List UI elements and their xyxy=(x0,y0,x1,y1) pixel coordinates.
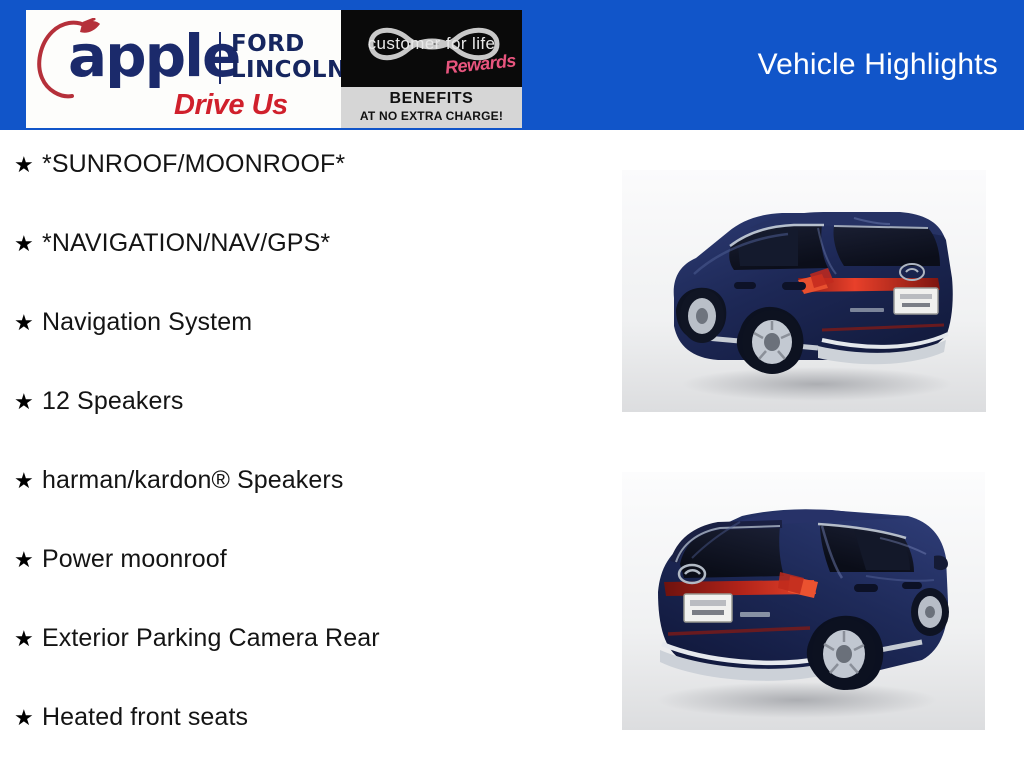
list-item: ★ Heated front seats xyxy=(14,705,248,730)
star-icon: ★ xyxy=(14,550,42,572)
rewards-badge: customer for life Rewards BENEFITS AT NO… xyxy=(341,10,522,128)
list-item: ★ harman/kardon® Speakers xyxy=(14,468,343,493)
vehicle-photo-2-image xyxy=(622,472,985,730)
page-title: Vehicle Highlights xyxy=(758,48,998,82)
star-icon: ★ xyxy=(14,708,42,730)
vehicle-photo-rear-driver-side[interactable] xyxy=(622,170,986,412)
highlight-label: Power moonroof xyxy=(42,547,227,572)
highlight-label: harman/kardon® Speakers xyxy=(42,468,343,493)
dealer-make-names: FORD LINCOLN xyxy=(231,31,347,83)
dealer-brand-word: apple xyxy=(68,27,239,85)
star-icon: ★ xyxy=(14,155,42,177)
star-icon: ★ xyxy=(14,313,42,335)
highlight-label: Exterior Parking Camera Rear xyxy=(42,626,380,651)
list-item: ★ 12 Speakers xyxy=(14,389,183,414)
star-icon: ★ xyxy=(14,629,42,651)
vehicle-photo-1-image xyxy=(622,170,986,412)
highlight-label: 12 Speakers xyxy=(42,389,183,414)
rewards-headline: customer for life xyxy=(349,34,514,54)
benefits-panel: BENEFITS AT NO EXTRA CHARGE! xyxy=(341,87,522,128)
make-lincoln: LINCOLN xyxy=(231,57,347,83)
list-item: ★ Navigation System xyxy=(14,310,252,335)
make-ford: FORD xyxy=(231,31,305,57)
benefits-subline: AT NO EXTRA CHARGE! xyxy=(360,109,503,123)
page-header: apple FORD LINCOLN Drive Us customer for… xyxy=(0,0,1024,130)
highlight-label: *SUNROOF/MOONROOF* xyxy=(42,152,345,177)
vehicle-highlights-list: ★ *SUNROOF/MOONROOF* ★ *NAVIGATION/NAV/G… xyxy=(0,130,600,768)
highlight-label: Heated front seats xyxy=(42,705,248,730)
benefits-headline: BENEFITS xyxy=(390,90,474,108)
list-item: ★ Power moonroof xyxy=(14,547,227,572)
star-icon: ★ xyxy=(14,471,42,493)
list-item: ★ *SUNROOF/MOONROOF* xyxy=(14,152,345,177)
dealer-logo[interactable]: apple FORD LINCOLN Drive Us customer for… xyxy=(26,10,522,128)
list-item: ★ *NAVIGATION/NAV/GPS* xyxy=(14,231,330,256)
list-item: ★ Exterior Parking Camera Rear xyxy=(14,626,380,651)
dealer-logo-primary: apple FORD LINCOLN Drive Us xyxy=(26,10,341,128)
logo-divider xyxy=(219,32,221,84)
vehicle-photo-rear-passenger-side[interactable] xyxy=(622,472,985,730)
highlight-label: *NAVIGATION/NAV/GPS* xyxy=(42,231,330,256)
dealer-tagline: Drive Us xyxy=(174,90,288,120)
highlight-label: Navigation System xyxy=(42,310,252,335)
vehicle-highlights-slide: apple FORD LINCOLN Drive Us customer for… xyxy=(0,0,1024,768)
customer-for-life-panel: customer for life Rewards xyxy=(341,10,522,87)
star-icon: ★ xyxy=(14,392,42,414)
star-icon: ★ xyxy=(14,234,42,256)
